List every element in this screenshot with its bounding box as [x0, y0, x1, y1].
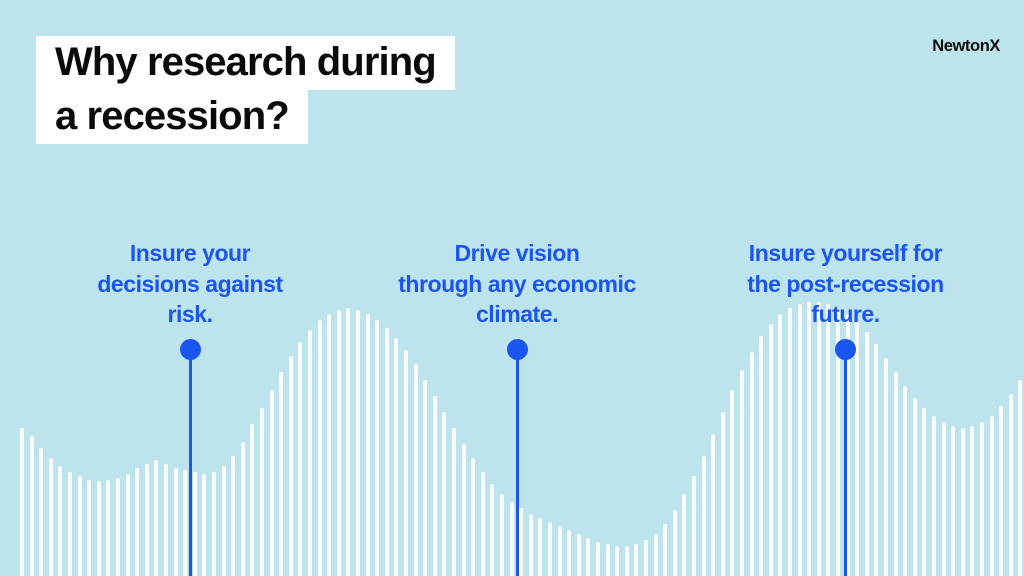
wave-bar: [20, 428, 24, 576]
pin-stem-line: [189, 355, 192, 576]
newtonx-logo: NewtonX: [932, 38, 1000, 55]
callout-insure-decisions: Insure your decisions against risk.: [65, 238, 315, 576]
pin-marker: [65, 339, 315, 576]
wave-bar: [999, 406, 1003, 576]
wave-bar: [692, 476, 696, 576]
pin-stem-line: [516, 355, 519, 576]
wave-bar: [990, 416, 994, 576]
callout-drive-vision: Drive vision through any economic climat…: [367, 238, 667, 576]
page-title: Why research during a recession?: [36, 36, 656, 144]
callout-label: Insure your decisions against risk.: [65, 238, 315, 330]
pin-marker: [367, 339, 667, 576]
slide-canvas: NewtonX Why research during a recession?…: [0, 0, 1024, 576]
wave-bar: [30, 436, 34, 576]
callout-label: Insure yourself for the post-recession f…: [707, 238, 984, 330]
wave-bar: [318, 320, 322, 576]
page-title-line-1: Why research during: [36, 36, 455, 90]
callout-post-recession-future: Insure yourself for the post-recession f…: [707, 238, 984, 576]
wave-bar: [337, 310, 341, 576]
wave-bar: [1009, 394, 1013, 576]
wave-bar: [327, 314, 331, 576]
wave-bar: [682, 494, 686, 576]
pin-stem-line: [844, 355, 847, 576]
wave-bar: [702, 456, 706, 576]
wave-bar: [39, 448, 43, 576]
wave-bar: [49, 458, 53, 576]
page-title-line-2: a recession?: [36, 90, 308, 144]
wave-bar: [1018, 380, 1022, 576]
wave-bar: [58, 466, 62, 576]
wave-bar: [673, 510, 677, 576]
callout-label: Drive vision through any economic climat…: [367, 238, 667, 330]
wave-bar: [346, 308, 350, 576]
pin-marker: [707, 339, 984, 576]
wave-bar: [356, 310, 360, 576]
